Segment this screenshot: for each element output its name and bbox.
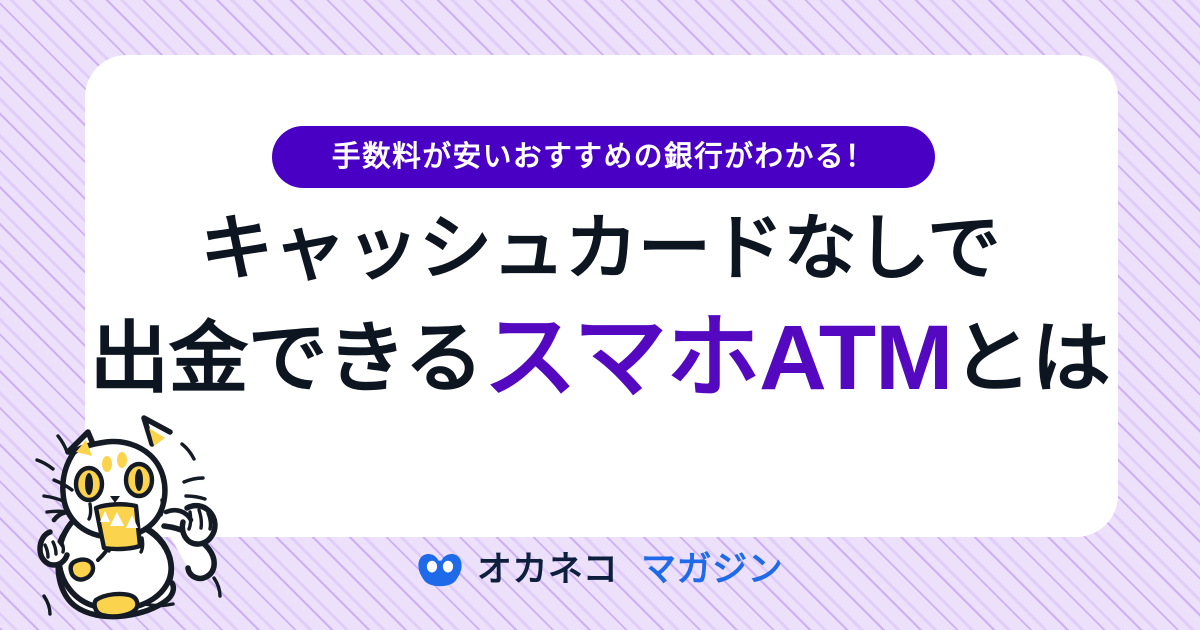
brand-name-primary: オカネコ	[477, 552, 618, 587]
eyebrow-badge: 手数料が安いおすすめの銀行がわかる！	[272, 126, 935, 188]
mascot-cat-illustration	[14, 408, 254, 630]
eyebrow-badge-label: 手数料が安いおすすめの銀行がわかる！	[332, 143, 876, 172]
headline-line-2: 出金できるスマホATMとは	[0, 310, 1200, 407]
headline-line-2-prefix: 出金できる	[90, 314, 484, 402]
headline-line-2-suffix: とは	[952, 314, 1110, 402]
headline-line-1: キャッシュカードなしで	[0, 212, 1200, 288]
brand-name-secondary: マガジン	[641, 552, 783, 587]
headline-block: キャッシュカードなしで 出金できるスマホATMとは	[0, 212, 1200, 406]
promo-banner: 手数料が安いおすすめの銀行がわかる！ キャッシュカードなしで 出金できるスマホA…	[0, 0, 1200, 630]
headline-line-2-accent: スマホATM	[483, 307, 952, 409]
cat-face-icon	[417, 553, 463, 587]
